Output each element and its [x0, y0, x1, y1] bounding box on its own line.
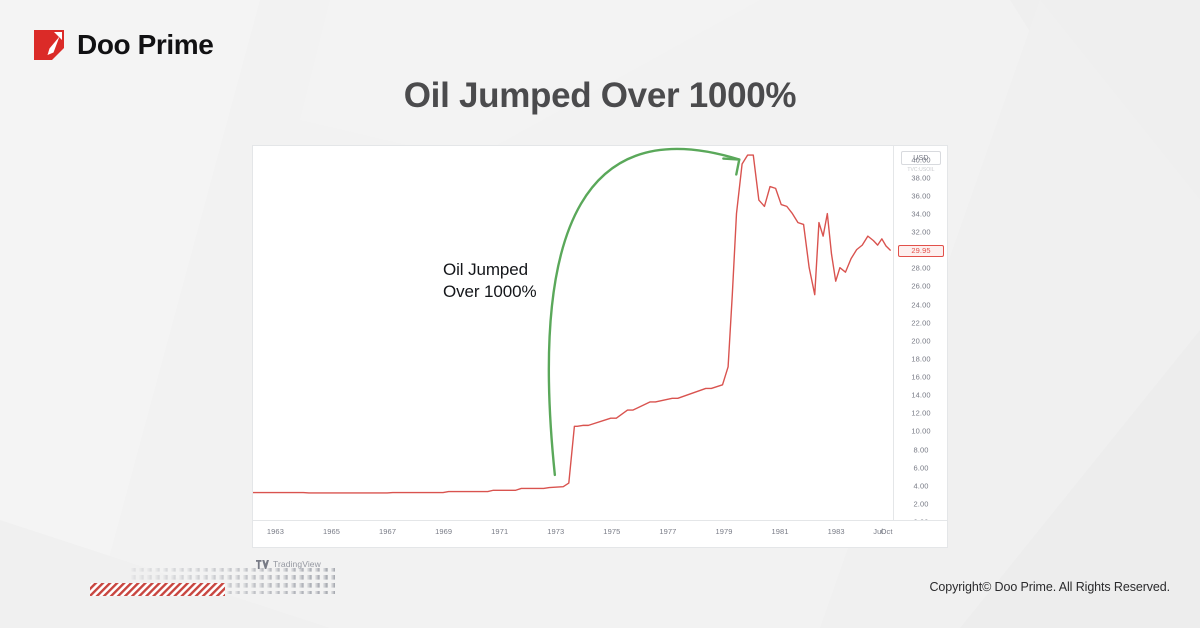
- time-axis-tick: 1967: [379, 527, 396, 536]
- price-axis-tick: 32.00: [894, 228, 948, 237]
- tradingview-watermark[interactable]: TradingView: [256, 559, 321, 569]
- time-axis-tick: Oct: [881, 527, 893, 536]
- brand-name: Doo Prime: [77, 29, 213, 61]
- time-axis-tick: 1971: [491, 527, 508, 536]
- time-axis-tick: 1965: [323, 527, 340, 536]
- price-axis-tick: 24.00: [894, 300, 948, 309]
- chart-plot-area: [253, 146, 893, 520]
- price-axis[interactable]: USD TVC:USOIL 0.002.004.006.008.0010.001…: [893, 146, 947, 520]
- footer-decoration: [90, 566, 340, 606]
- time-axis-tick: 1969: [435, 527, 452, 536]
- price-axis-tick: 34.00: [894, 209, 948, 218]
- price-axis-tick: 8.00: [894, 445, 948, 454]
- price-axis-tick: 18.00: [894, 354, 948, 363]
- price-axis-tick: 22.00: [894, 318, 948, 327]
- copyright-text: Copyright© Doo Prime. All Rights Reserve…: [929, 580, 1170, 594]
- price-axis-tick: 14.00: [894, 391, 948, 400]
- price-axis-tick: 36.00: [894, 191, 948, 200]
- price-axis-tick: 6.00: [894, 463, 948, 472]
- time-axis-tick: 1977: [659, 527, 676, 536]
- symbol-sub-label: TVC:USOIL: [901, 167, 941, 173]
- price-axis-tick: 2.00: [894, 499, 948, 508]
- price-axis-tick: 16.00: [894, 373, 948, 382]
- brand-logo: Doo Prime: [32, 28, 213, 62]
- price-axis-tick: 20.00: [894, 336, 948, 345]
- price-axis-tick: 38.00: [894, 173, 948, 182]
- tradingview-label: TradingView: [273, 559, 321, 569]
- tradingview-logo-icon: [256, 560, 269, 569]
- last-price-tag: 29.95: [898, 245, 944, 257]
- price-axis-tick: 40.00: [894, 155, 948, 164]
- page-title: Oil Jumped Over 1000%: [0, 76, 1200, 116]
- price-axis-tick: 28.00: [894, 264, 948, 273]
- chart-card: Oil Jumped Over 1000% USD TVC:USOIL 0.00…: [252, 145, 948, 548]
- time-axis-tick: 1981: [772, 527, 789, 536]
- price-axis-tick: 10.00: [894, 427, 948, 436]
- time-axis-tick: 1979: [715, 527, 732, 536]
- price-axis-tick: 4.00: [894, 481, 948, 490]
- time-axis-tick: 1973: [547, 527, 564, 536]
- price-axis-tick: 26.00: [894, 282, 948, 291]
- time-axis-tick: 1983: [828, 527, 845, 536]
- time-axis-tick: 1975: [603, 527, 620, 536]
- time-axis-tick: 1963: [267, 527, 284, 536]
- price-axis-tick: 12.00: [894, 409, 948, 418]
- doo-prime-flag-icon: [32, 28, 66, 62]
- time-axis[interactable]: 1963196519671969197119731975197719791981…: [253, 520, 947, 547]
- chart-annotation-text: Oil Jumped Over 1000%: [443, 259, 537, 304]
